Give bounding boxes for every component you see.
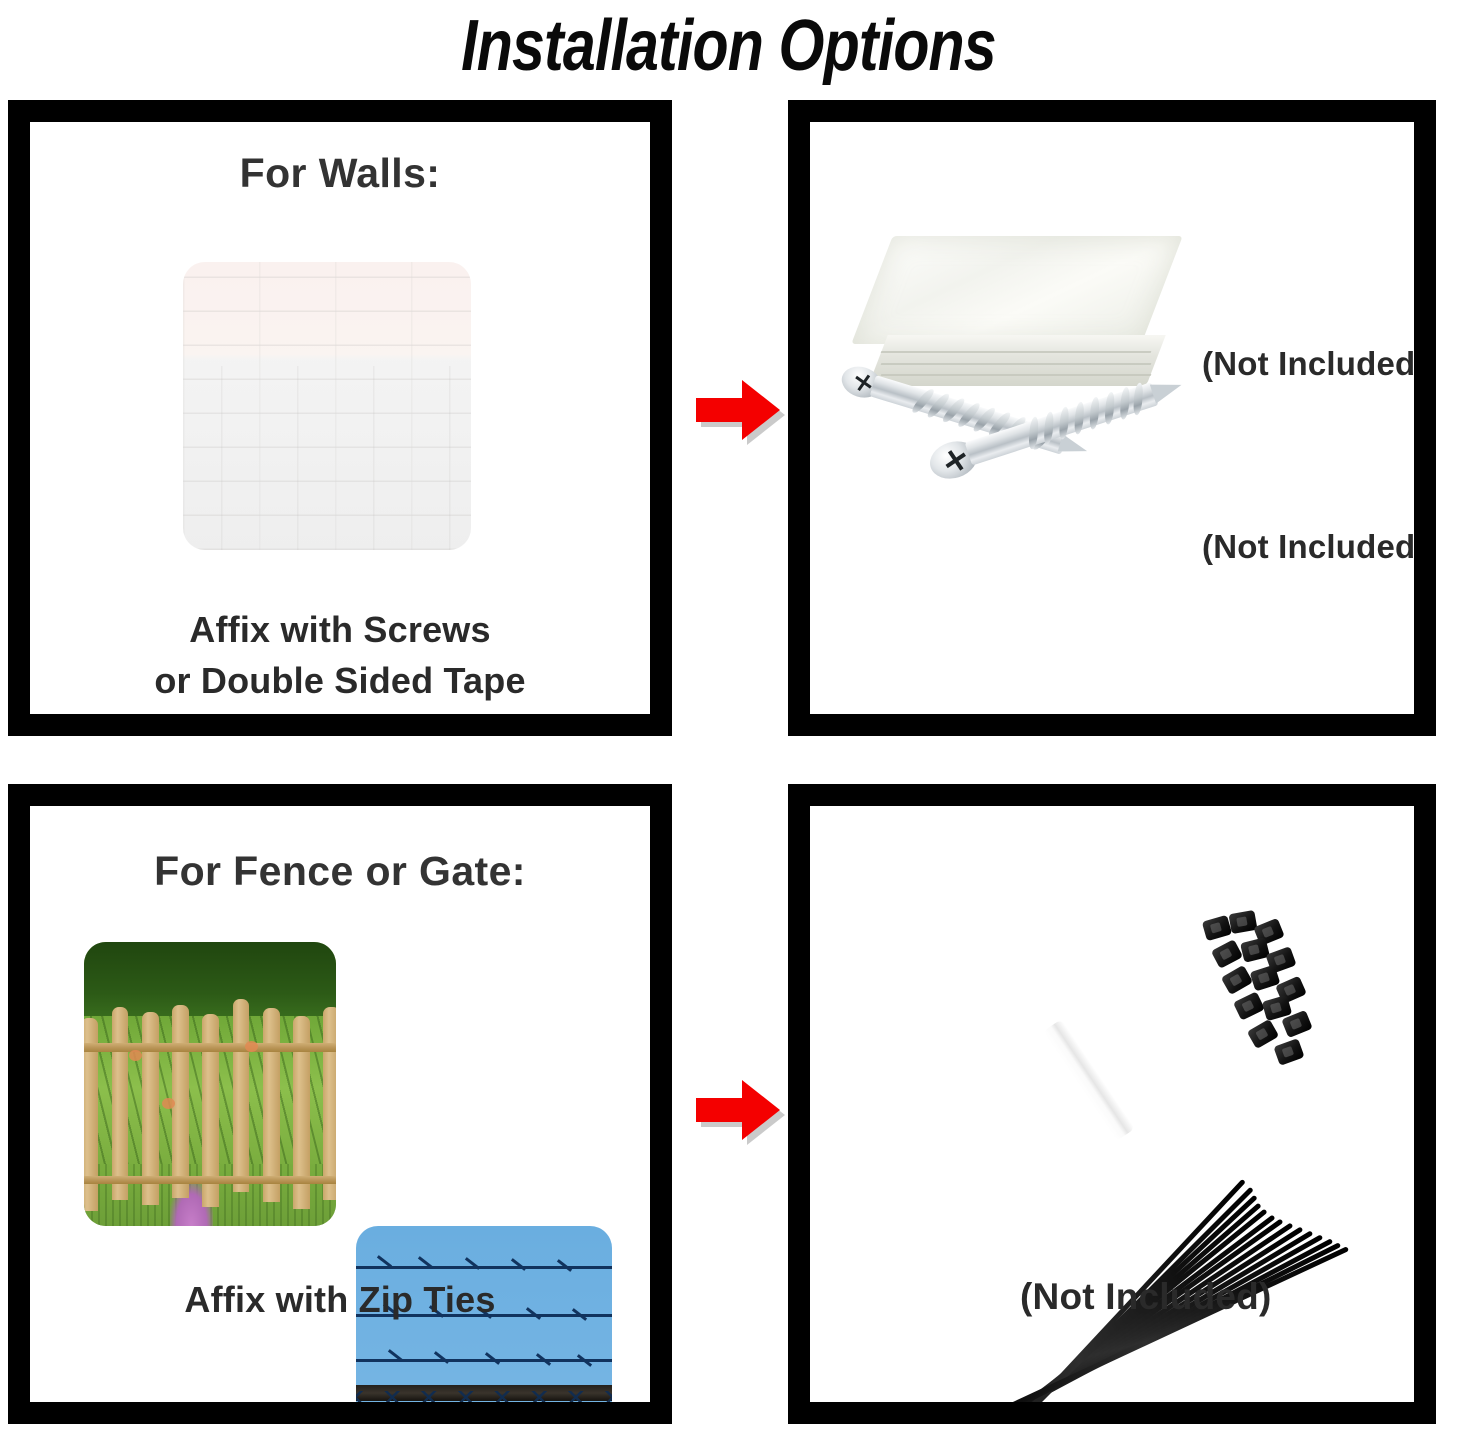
fence-caption: Affix with Zip Ties — [30, 1274, 650, 1325]
brick-wall-photo — [183, 262, 471, 550]
arrow-right-icon-top — [690, 372, 786, 448]
panel-for-fence-or-gate: For Fence or Gate: — [8, 784, 672, 1424]
zipties-not-included-label: (Not Included) — [1020, 1276, 1271, 1318]
for-walls-heading: For Walls: — [30, 150, 650, 197]
walls-caption-line1: Affix with Screws — [30, 604, 650, 655]
walls-caption-line2: or Double Sided Tape — [30, 655, 650, 706]
double-sided-tape-photo — [872, 236, 1162, 386]
walls-caption: Affix with Screws or Double Sided Tape — [30, 604, 650, 706]
panel-zip-ties: (Not Included) — [788, 784, 1436, 1424]
page-title: Installation Options — [131, 0, 1326, 92]
screws-not-included-label: (Not Included) — [1202, 528, 1414, 566]
fence-caption-line1: Affix with Zip Ties — [30, 1274, 650, 1325]
panel-for-walls: For Walls: Affix with Screws or Double S… — [8, 100, 672, 736]
arrow-right-icon-bottom — [690, 1072, 786, 1148]
zip-ties-photo — [832, 896, 1352, 1286]
picket-fence-photo — [84, 942, 336, 1226]
panel-hardware: (Not Included) — [788, 100, 1436, 736]
for-fence-heading: For Fence or Gate: — [30, 848, 650, 895]
tape-not-included-label: (Not Included) — [1202, 345, 1414, 383]
zip-tie-band — [1043, 1019, 1135, 1141]
